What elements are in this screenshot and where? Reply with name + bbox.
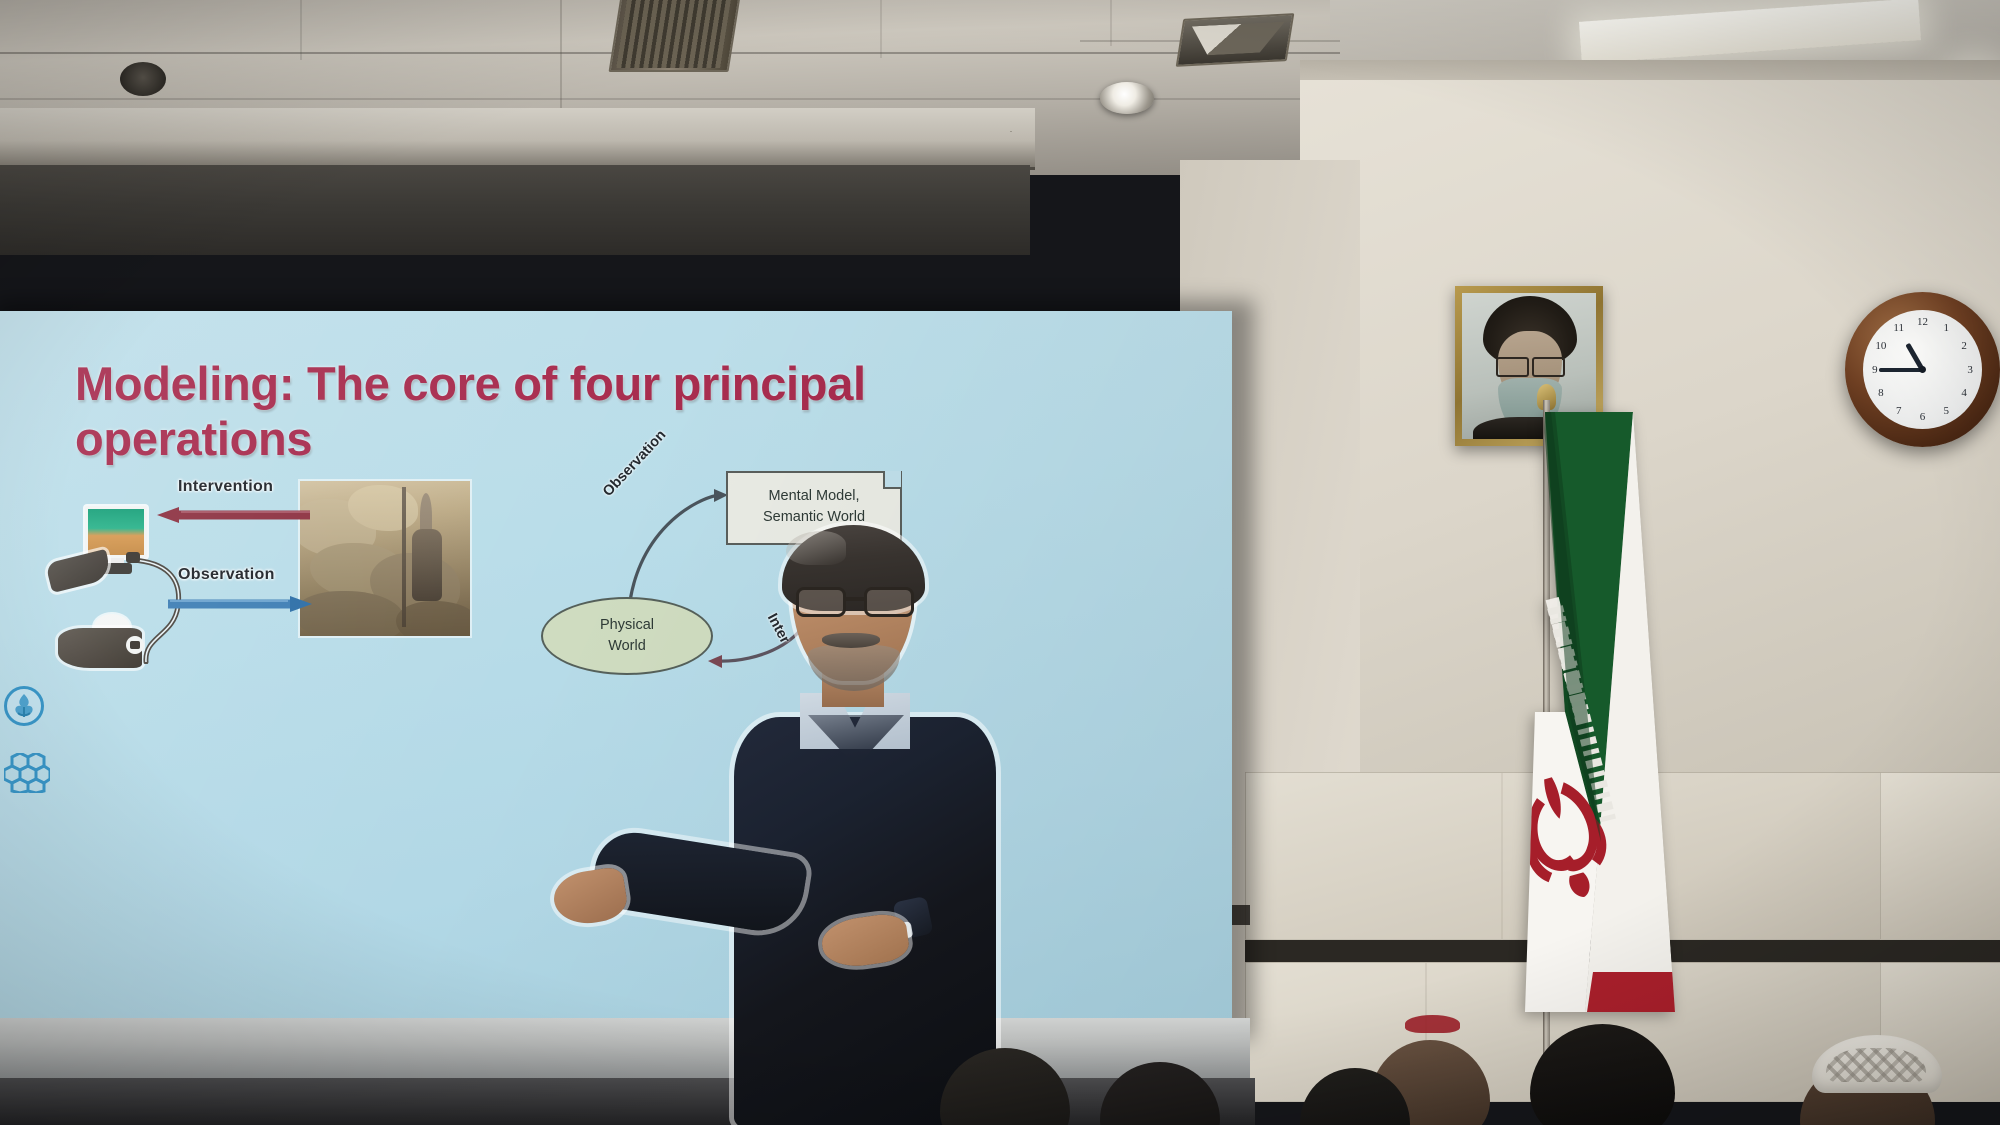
- presenter: [700, 525, 1030, 1125]
- clock-hour-number: 9: [1872, 364, 1878, 376]
- portrait-glasses-icon: [1496, 357, 1566, 373]
- ceiling-grid-line: [300, 0, 302, 60]
- field-photograph: [300, 481, 470, 636]
- clock-hour-number: 8: [1878, 387, 1884, 399]
- presenter-mustache: [822, 633, 880, 648]
- physical-world-line-1: Physical: [600, 615, 654, 636]
- projected-slide: Modeling: The core of four principal ope…: [0, 311, 1232, 1031]
- ceiling-speaker-grille: [120, 62, 166, 96]
- slide-title: Modeling: The core of four principal ope…: [75, 356, 975, 467]
- clock-hour-number: 3: [1967, 364, 1973, 376]
- presenter-hair-highlight: [786, 531, 846, 565]
- institute-seal-logo-icon: [4, 686, 44, 726]
- glasses-right-lens: [864, 587, 914, 617]
- projector-screen-housing: ·: [0, 108, 1035, 170]
- flag-svg: ▮▯▮ ▯▮▯ ▮▯▮ ▯▮▯ ▮▯▮: [1525, 412, 1710, 1012]
- clock-hour-number: 11: [1893, 322, 1904, 334]
- microscope-icon: [40, 506, 170, 686]
- housing-brand-label: ·: [1010, 126, 1014, 136]
- slide-title-line-2: operations: [75, 411, 975, 466]
- cap-pattern: [1826, 1048, 1926, 1082]
- clock-hour-number: 2: [1961, 340, 1967, 352]
- physical-world-ellipse: Physical World: [541, 597, 713, 675]
- mental-model-text: Mental Model, Semantic World: [728, 486, 900, 527]
- clock-hour-number: 4: [1961, 387, 1967, 399]
- microscope-head: [45, 549, 112, 593]
- marble-panel: [1880, 772, 2000, 940]
- clock-center-pin: [1919, 366, 1926, 373]
- observation-label: Observation: [178, 566, 275, 584]
- slide-title-line-1: Modeling: The core of four principal: [75, 356, 975, 411]
- ceiling-spotlight: [1100, 82, 1154, 114]
- clock-hour-number: 6: [1920, 411, 1926, 423]
- wall-clock: 12 1 2 3 4 5 6 7 8 9 10 11: [1845, 292, 2000, 447]
- screen-lower-frame: [0, 1018, 1250, 1080]
- intervention-arrow: [155, 507, 315, 523]
- physical-world-line-2: World: [600, 636, 654, 657]
- iranian-flag: ▮▯▮ ▯▮▯ ▮▯▮ ▯▮▯ ▮▯▮: [1525, 412, 1710, 1012]
- ceiling-grid-line: [880, 0, 882, 58]
- presentation-room-photo: · 12 1 2 3 4 5 6 7 8: [0, 0, 2000, 1125]
- presenter-glasses-icon: [796, 587, 914, 617]
- intervention-label: Intervention: [178, 478, 273, 496]
- wall-band-dark: [0, 165, 1030, 255]
- clock-hour-number: 12: [1917, 316, 1928, 328]
- hexagon-network-logo-icon: [4, 753, 50, 793]
- clock-hour-number: 10: [1875, 340, 1886, 352]
- glasses-bridge: [846, 597, 864, 601]
- clock-hour-number: 1: [1944, 322, 1950, 334]
- observation-arrow: [168, 596, 314, 612]
- clock-face: 12 1 2 3 4 5 6 7 8 9 10 11: [1863, 310, 1982, 429]
- clock-minute-hand: [1879, 368, 1923, 372]
- clock-hour-number: 5: [1944, 405, 1950, 417]
- glasses-left-lens: [796, 587, 846, 617]
- audience-red-item: [1405, 1015, 1460, 1033]
- physical-world-text: Physical World: [600, 615, 654, 656]
- photo-overlay: [300, 481, 470, 636]
- clock-hour-number: 7: [1896, 405, 1902, 417]
- ceiling-grid-line: [560, 0, 562, 110]
- ceiling-vent-slats: [616, 0, 732, 68]
- mental-model-line-1: Mental Model,: [728, 486, 900, 507]
